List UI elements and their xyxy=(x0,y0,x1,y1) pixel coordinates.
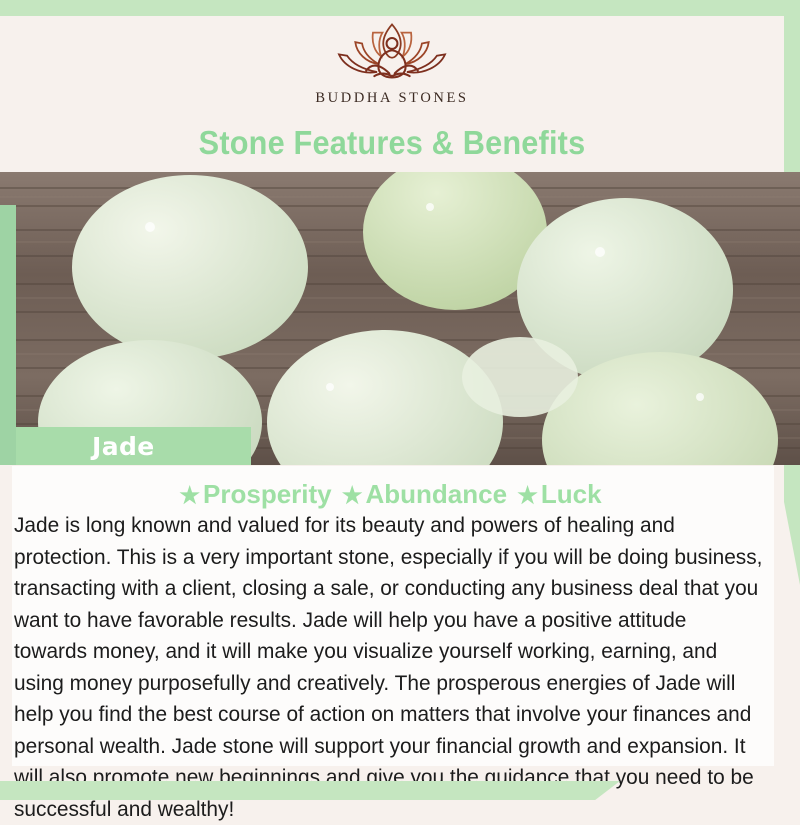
star-icon: ★ xyxy=(342,482,363,508)
stone-name-banner: Jade xyxy=(16,427,251,465)
keyword-prosperity: Prosperity xyxy=(203,479,332,509)
brand-logo-block: BUDDHA STONES xyxy=(0,18,784,118)
stone-photo xyxy=(0,172,800,465)
stone-name-label: Jade xyxy=(92,432,155,461)
page-title: Stone Features & Benefits xyxy=(27,124,756,162)
star-icon: ★ xyxy=(517,482,538,508)
keyword-abundance: Abundance xyxy=(365,479,507,509)
lotus-meditation-icon xyxy=(324,18,460,88)
brand-name: BUDDHA STONES xyxy=(315,90,468,107)
star-icon: ★ xyxy=(179,482,200,508)
stone-description-text: Jade is long known and valued for its be… xyxy=(14,510,763,825)
frame-bottom-band xyxy=(0,781,620,800)
keyword-luck: Luck xyxy=(541,479,602,509)
keyword-list: ★Prosperity ★Abundance ★Luck xyxy=(0,479,784,510)
frame-left-accent-bar xyxy=(0,205,16,465)
